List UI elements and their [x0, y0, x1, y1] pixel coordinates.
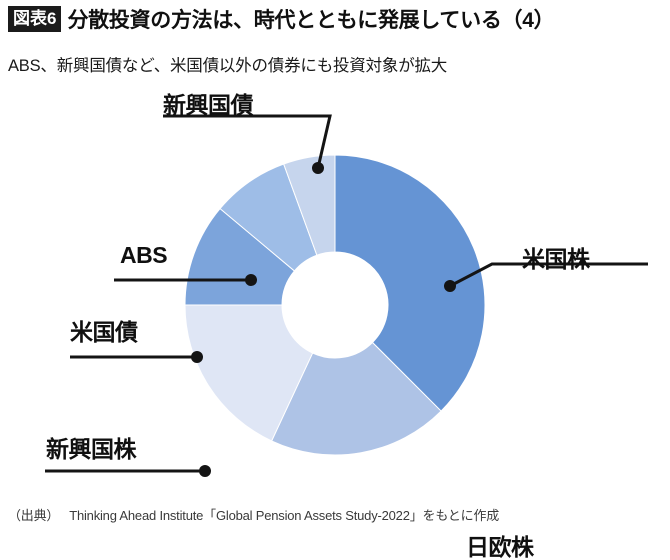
- figure-number-badge: 図表6: [8, 6, 61, 32]
- callout-label-米国株: 米国株: [522, 248, 590, 271]
- leader-dot-新興国株: [199, 465, 211, 477]
- callout-leader-lines: [0, 86, 670, 486]
- callout-label-新興国債: 新興国債: [163, 94, 253, 117]
- callout-label-日欧株: 日欧株: [466, 536, 534, 559]
- callout-label-新興国株: 新興国株: [46, 438, 136, 461]
- leader-dot-ABS: [245, 274, 257, 286]
- leader-line-新興国債: [163, 116, 330, 168]
- page-title: 分散投資の方法は、時代とともに発展している（4）: [67, 4, 554, 34]
- page-subtitle: ABS、新興国債など、米国債以外の債券にも投資対象が拡大: [8, 52, 447, 76]
- callout-label-ABS: ABS: [120, 244, 167, 267]
- leader-dot-米国株: [444, 280, 456, 292]
- donut-chart: 米国株日欧株新興国株米国債ABS新興国債: [0, 86, 670, 486]
- leader-dot-新興国債: [312, 162, 324, 174]
- source-text: Thinking Ahead Institute「Global Pension …: [69, 508, 499, 523]
- source-label: （出典）: [8, 508, 59, 523]
- callout-label-米国債: 米国債: [70, 321, 138, 344]
- title-row: 図表6 分散投資の方法は、時代とともに発展している（4）: [8, 4, 554, 34]
- leader-dot-米国債: [191, 351, 203, 363]
- source-note: （出典）Thinking Ahead Institute「Global Pens…: [8, 505, 499, 524]
- leader-line-group: [45, 116, 648, 486]
